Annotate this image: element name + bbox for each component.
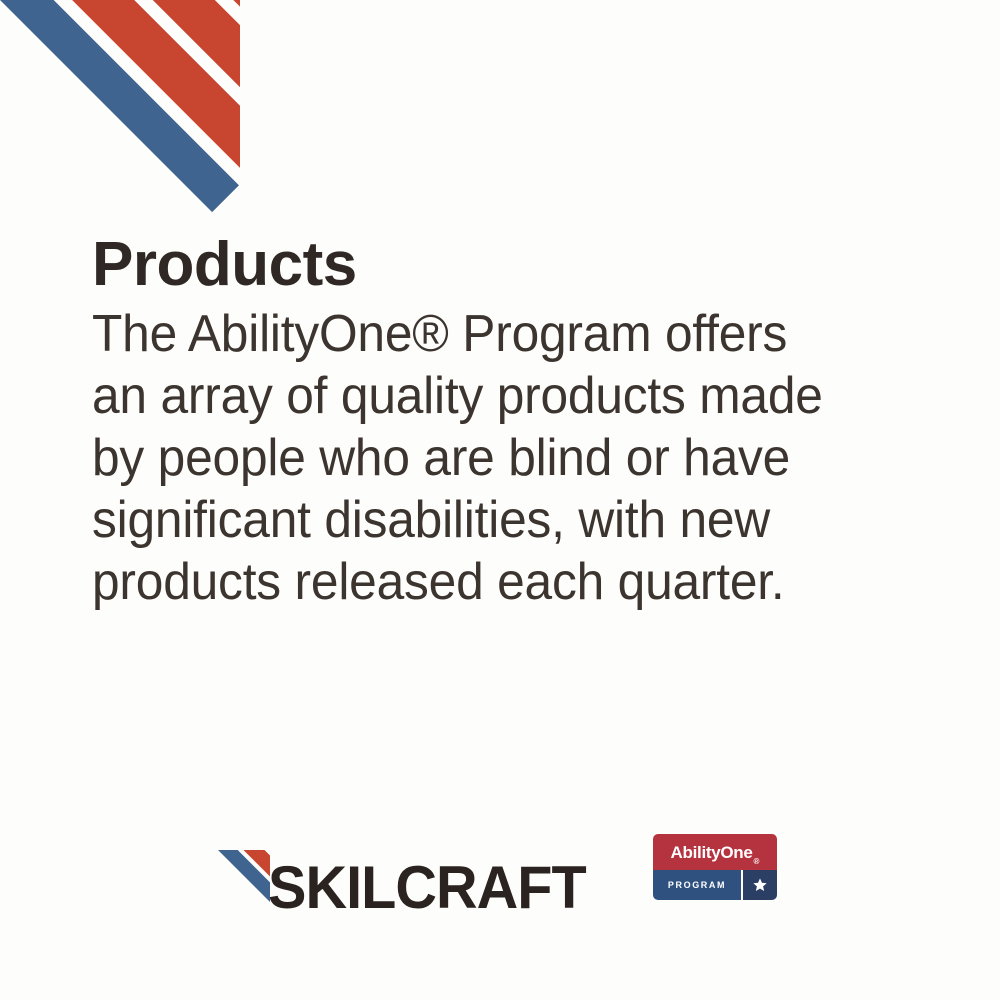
- abilityone-star-box: [743, 870, 777, 900]
- abilityone-program-label: PROGRAM: [653, 870, 743, 900]
- body-line: by people who are blind or have: [92, 427, 818, 489]
- abilityone-wordmark: AbilityOne: [671, 844, 753, 861]
- abilityone-bottom-block: PROGRAM: [653, 870, 777, 900]
- skilcraft-wordmark: SKILCRAFT: [268, 863, 586, 912]
- flag-stripes-corner-icon: [0, 0, 240, 240]
- body-line: The AbilityOne® Program offers: [92, 303, 818, 365]
- star-icon: [752, 877, 768, 893]
- body-line: products released each quarter.: [92, 551, 818, 613]
- skilcraft-logo: SKILCRAFT: [218, 832, 599, 912]
- registered-trademark-mark: ®: [754, 858, 760, 866]
- body-line: significant disabilities, with new: [92, 489, 818, 551]
- product-info-card: Products The AbilityOne® Program offers …: [0, 0, 1000, 1000]
- abilityone-logo: AbilityOne ® PROGRAM: [653, 834, 777, 900]
- logo-row: SKILCRAFT AbilityOne ® PROGRAM: [0, 828, 1000, 918]
- corner-flag-decoration: [0, 0, 240, 240]
- body-line: an array of quality products made: [92, 365, 818, 427]
- abilityone-top-block: AbilityOne ®: [653, 834, 777, 870]
- body-paragraph: The AbilityOne® Program offers an array …: [92, 303, 852, 613]
- page-title: Products: [92, 234, 357, 296]
- skilcraft-flag-mark-icon: [218, 850, 270, 912]
